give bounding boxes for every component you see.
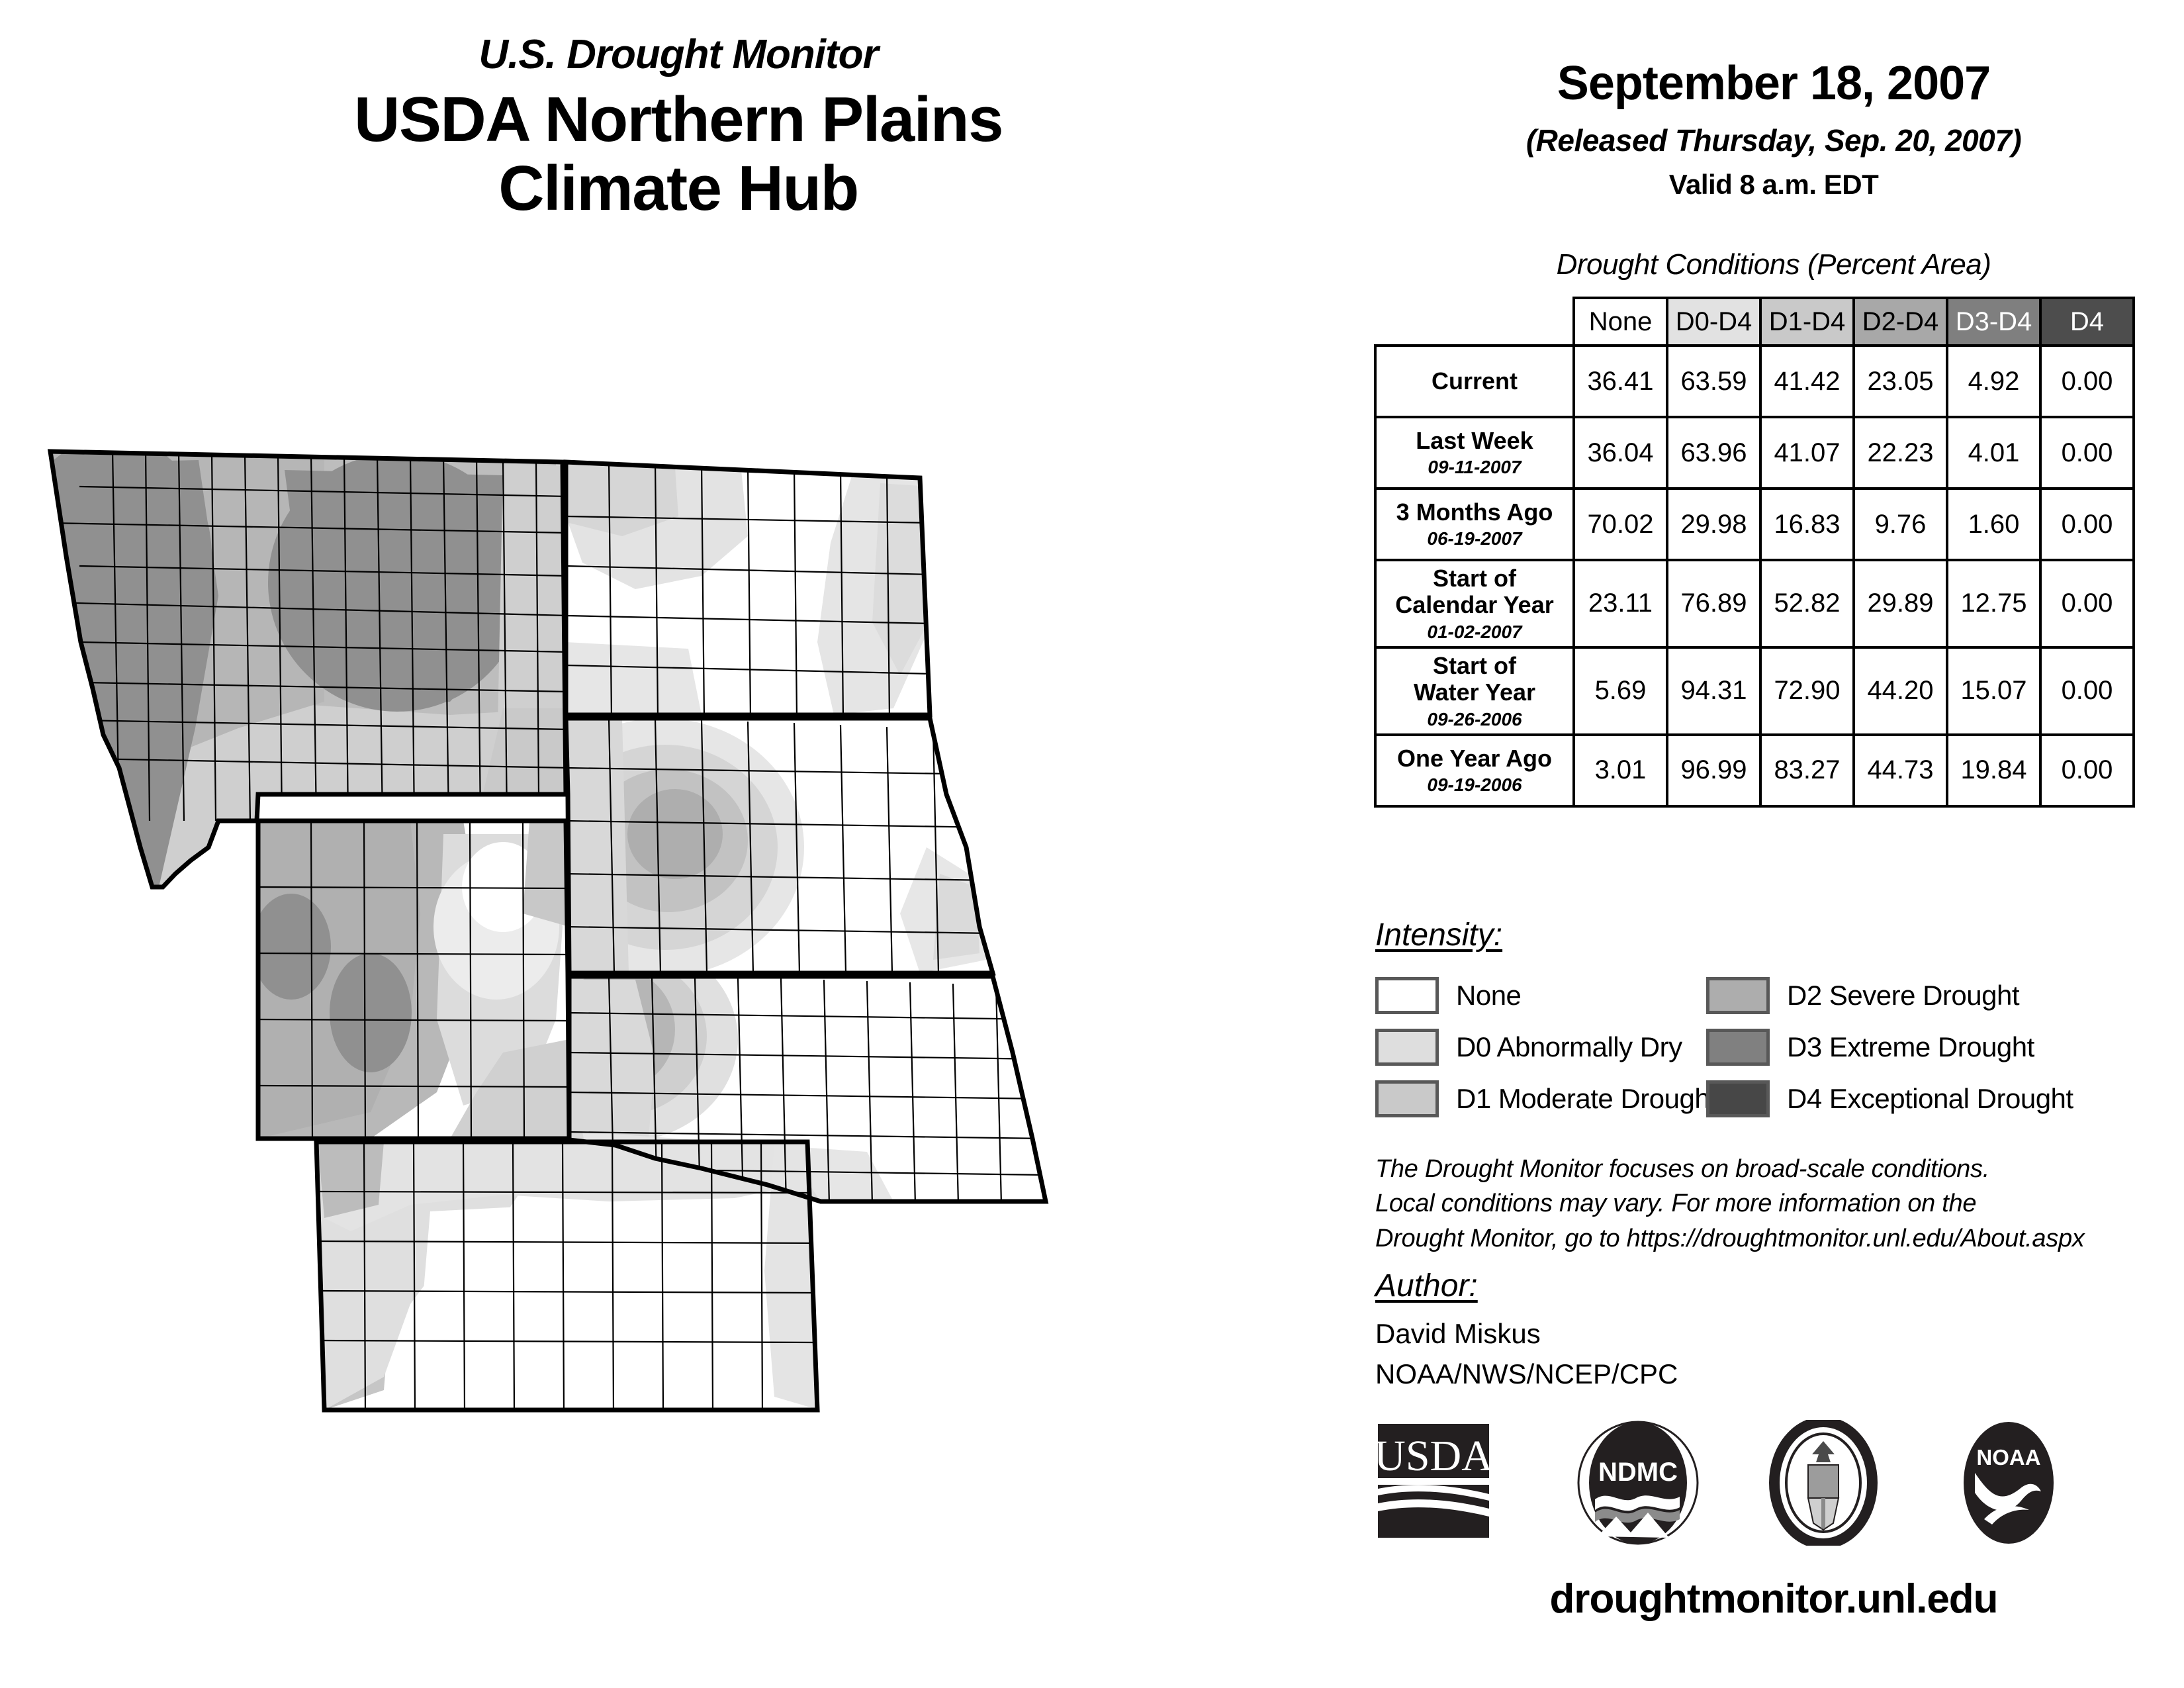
table-cell-d2-d4: 23.05 xyxy=(1854,346,1947,417)
table-cell-none: 23.11 xyxy=(1574,560,1667,647)
column-header-d0-d4: D0-D4 xyxy=(1667,298,1760,346)
row-label: Start ofCalendar Year01-02-2007 xyxy=(1375,560,1574,647)
table-cell-none: 3.01 xyxy=(1574,735,1667,806)
table-cell-d1-d4: 16.83 xyxy=(1760,489,1854,560)
legend-swatch xyxy=(1375,1029,1439,1066)
row-label: 3 Months Ago06-19-2007 xyxy=(1375,489,1574,560)
table-header-row: None D0-D4 D1-D4 D2-D4 D3-D4 D4 xyxy=(1375,298,2134,346)
legend-column-left: NoneD0 Abnormally DryD1 Moderate Drought xyxy=(1375,970,1717,1125)
row-label: Current xyxy=(1375,346,1574,417)
table-cell-d4: 0.00 xyxy=(2040,735,2134,806)
author-info: David Miskus NOAA/NWS/NCEP/CPC xyxy=(1375,1314,2176,1395)
row-date: 09-26-2006 xyxy=(1379,709,1570,729)
table-cell-d1-d4: 41.42 xyxy=(1760,346,1854,417)
legend-label: D0 Abnormally Dry xyxy=(1456,1031,1682,1063)
table-cell-d3-d4: 1.60 xyxy=(1947,489,2040,560)
table-row: Start ofCalendar Year01-02-200723.1176.8… xyxy=(1375,560,2134,647)
table-cell-d3-d4: 4.92 xyxy=(1947,346,2040,417)
usda-logo: USDA xyxy=(1377,1420,1492,1546)
table-row: Start ofWater Year09-26-20065.6994.3172.… xyxy=(1375,647,2134,735)
page-title-line1: USDA Northern Plains xyxy=(0,85,1357,154)
table-cell-d0-d4: 96.99 xyxy=(1667,735,1760,806)
row-date: 09-11-2007 xyxy=(1379,457,1570,477)
footer-url: droughtmonitor.unl.edu xyxy=(1363,1575,2184,1622)
svg-text:NDMC: NDMC xyxy=(1598,1458,1678,1487)
table-cell-d1-d4: 83.27 xyxy=(1760,735,1854,806)
table-cell-none: 36.04 xyxy=(1574,417,1667,489)
table-cell-d4: 0.00 xyxy=(2040,489,2134,560)
table-cell-d2-d4: 9.76 xyxy=(1854,489,1947,560)
column-header-d3-d4: D3-D4 xyxy=(1947,298,2040,346)
table-body: Current36.4163.5941.4223.054.920.00Last … xyxy=(1375,346,2134,806)
legend-label: D3 Extreme Drought xyxy=(1787,1031,2034,1063)
table-cell-d4: 0.00 xyxy=(2040,346,2134,417)
report-date: September 18, 2007 xyxy=(1363,56,2184,111)
title-block: U.S. Drought Monitor USDA Northern Plain… xyxy=(0,33,1357,222)
row-label: One Year Ago09-19-2006 xyxy=(1375,735,1574,806)
table-cell-d3-d4: 19.84 xyxy=(1947,735,2040,806)
legend-swatch xyxy=(1706,1080,1770,1117)
table-cell-d2-d4: 44.73 xyxy=(1854,735,1947,806)
column-header-d1-d4: D1-D4 xyxy=(1760,298,1854,346)
drought-map xyxy=(40,424,1337,1456)
table-cell-d4: 0.00 xyxy=(2040,647,2134,735)
ndmc-logo: NDMC xyxy=(1575,1420,1701,1549)
svg-text:NOAA: NOAA xyxy=(1976,1445,2040,1470)
legend-item: None xyxy=(1375,970,1717,1021)
table-cell-d4: 0.00 xyxy=(2040,560,2134,647)
author-heading: Author: xyxy=(1375,1268,1478,1304)
table-cell-d1-d4: 52.82 xyxy=(1760,560,1854,647)
disclaimer-text: The Drought Monitor focuses on broad-sca… xyxy=(1375,1152,2176,1256)
table-row: Current36.4163.5941.4223.054.920.00 xyxy=(1375,346,2134,417)
legend-item: D1 Moderate Drought xyxy=(1375,1073,1717,1125)
legend-item: D2 Severe Drought xyxy=(1706,970,2073,1021)
legend-label: D1 Moderate Drought xyxy=(1456,1083,1717,1115)
table-cell-d1-d4: 72.90 xyxy=(1760,647,1854,735)
legend-label: D4 Exceptional Drought xyxy=(1787,1083,2073,1115)
table-cell-none: 70.02 xyxy=(1574,489,1667,560)
legend-label: None xyxy=(1456,980,1521,1011)
table-cell-d0-d4: 29.98 xyxy=(1667,489,1760,560)
legend-item: D3 Extreme Drought xyxy=(1706,1021,2073,1073)
table-cell-d0-d4: 94.31 xyxy=(1667,647,1760,735)
report-valid-time: Valid 8 a.m. EDT xyxy=(1363,169,2184,201)
legend-item: D0 Abnormally Dry xyxy=(1375,1021,1717,1073)
page-title-line2: Climate Hub xyxy=(0,154,1357,223)
page-title: USDA Northern Plains Climate Hub xyxy=(0,85,1357,222)
table-cell-d2-d4: 22.23 xyxy=(1854,417,1947,489)
table-corner-cell xyxy=(1375,298,1574,346)
north-dakota-drought-shading xyxy=(556,457,953,735)
row-label: Last Week09-11-2007 xyxy=(1375,417,1574,489)
table-row: Last Week09-11-200736.0463.9641.0722.234… xyxy=(1375,417,2134,489)
table-cell-d3-d4: 4.01 xyxy=(1947,417,2040,489)
page-supertitle: U.S. Drought Monitor xyxy=(0,33,1357,76)
table-cell-d2-d4: 44.20 xyxy=(1854,647,1947,735)
row-date: 09-19-2006 xyxy=(1379,774,1570,795)
author-affiliation: NOAA/NWS/NCEP/CPC xyxy=(1375,1354,2176,1395)
legend-swatch xyxy=(1375,977,1439,1014)
drought-conditions-table: None D0-D4 D1-D4 D2-D4 D3-D4 D4 Current3… xyxy=(1374,297,2175,808)
legend-column-right: D2 Severe DroughtD3 Extreme DroughtD4 Ex… xyxy=(1706,970,2073,1125)
table-cell-d2-d4: 29.89 xyxy=(1854,560,1947,647)
table-row: One Year Ago09-19-20063.0196.9983.2744.7… xyxy=(1375,735,2134,806)
legend-swatch xyxy=(1375,1080,1439,1117)
table-cell-d4: 0.00 xyxy=(2040,417,2134,489)
disclaimer-line-2: Local conditions may vary. For more info… xyxy=(1375,1186,2176,1221)
legend-swatch xyxy=(1706,1029,1770,1066)
table-cell-d3-d4: 15.07 xyxy=(1947,647,2040,735)
author-name: David Miskus xyxy=(1375,1314,2176,1354)
legend-item: D4 Exceptional Drought xyxy=(1706,1073,2073,1125)
department-of-commerce-seal xyxy=(1760,1420,1886,1549)
report-released-date: (Released Thursday, Sep. 20, 2007) xyxy=(1363,122,2184,158)
column-header-d4: D4 xyxy=(2040,298,2134,346)
disclaimer-line-3: Drought Monitor, go to https://droughtmo… xyxy=(1375,1221,2176,1256)
table-cell-d0-d4: 76.89 xyxy=(1667,560,1760,647)
drought-map-svg xyxy=(40,424,1337,1456)
legend-swatch xyxy=(1706,977,1770,1014)
row-date: 06-19-2007 xyxy=(1379,528,1570,549)
right-panel: September 18, 2007 (Released Thursday, S… xyxy=(1363,0,2184,1688)
noaa-logo: NOAA xyxy=(1946,1420,2071,1549)
agency-logos: USDA NDMC xyxy=(1363,1420,2184,1546)
table-cell-none: 36.41 xyxy=(1574,346,1667,417)
table-row: 3 Months Ago06-19-200770.0229.9816.839.7… xyxy=(1375,489,2134,560)
intensity-heading: Intensity: xyxy=(1375,917,1502,953)
row-date: 01-02-2007 xyxy=(1379,622,1570,642)
table-cell-d1-d4: 41.07 xyxy=(1760,417,1854,489)
table-cell-d0-d4: 63.96 xyxy=(1667,417,1760,489)
column-header-none: None xyxy=(1574,298,1667,346)
disclaimer-line-1: The Drought Monitor focuses on broad-sca… xyxy=(1375,1152,2176,1186)
row-label: Start ofWater Year09-26-2006 xyxy=(1375,647,1574,735)
table-cell-d0-d4: 63.59 xyxy=(1667,346,1760,417)
legend-label: D2 Severe Drought xyxy=(1787,980,2019,1011)
table-cell-none: 5.69 xyxy=(1574,647,1667,735)
table-cell-d3-d4: 12.75 xyxy=(1947,560,2040,647)
svg-text:USDA: USDA xyxy=(1377,1432,1492,1480)
column-header-d2-d4: D2-D4 xyxy=(1854,298,1947,346)
table-caption: Drought Conditions (Percent Area) xyxy=(1363,248,2184,281)
